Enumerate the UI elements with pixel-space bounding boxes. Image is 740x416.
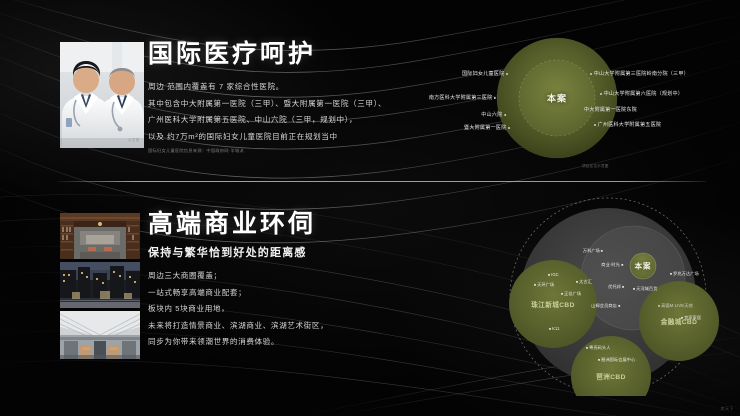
- commercial-cbd-diagram: 本案 珠江新城CBD 金融城CBD 琶洲CBD 万科广场 商业·时光 优托邦 天…: [428, 196, 738, 396]
- marker-dot: [508, 127, 510, 129]
- commercial-line-5: 同步为你带来领潮世界的消费体验。: [148, 338, 328, 346]
- commercial-line-3: 板块内 5块商业用地，: [148, 305, 328, 313]
- poi-utopia: 优托邦: [608, 285, 624, 289]
- commercial-line-2: 一站式畅享高端商业配套；: [148, 289, 328, 297]
- poi-taikoo-hui: 太古汇: [576, 280, 592, 284]
- medical-left-item-0: 国际妇女儿童医院: [462, 72, 508, 77]
- commercial-center-label: 本案: [635, 261, 652, 272]
- commercial-line-1: 周边三大商圈覆盖；: [148, 272, 328, 280]
- commercial-subtitle: 保持与繁华恰到好处的距离感: [148, 244, 328, 260]
- presentation-slide: 示意图 国际医疗呵护 周边 范围内覆盖有 7 家综合性医院。 其中包含中大附属第…: [0, 0, 740, 416]
- marker-dot: [681, 317, 683, 319]
- medical-left-item-2: 中山六院: [481, 113, 506, 118]
- modern-shopping-mall-photo: [60, 311, 140, 359]
- poi-k11: K11: [549, 327, 560, 331]
- marker-dot: [594, 124, 596, 126]
- marker-dot: [586, 347, 588, 349]
- section-divider: [58, 181, 706, 182]
- poi-mlive: 高德M·LIVE天地: [658, 304, 693, 308]
- marker-dot: [506, 73, 508, 75]
- marker-dot: [658, 305, 660, 307]
- poi-sams-club: 山姆会员商店: [591, 304, 620, 308]
- medical-right-item-1: 中山大学附属第六医院（规划中）: [600, 92, 683, 97]
- marker-dot: [576, 281, 578, 283]
- medical-left-item-3: 暨大附属第一医院: [464, 126, 510, 131]
- poi-tianhe-department-store: 天河城百货: [633, 287, 658, 291]
- poi-ikea: 宜家家居: [681, 316, 701, 320]
- watermark: 房天下: [721, 406, 735, 412]
- marker-dot: [598, 359, 600, 361]
- medical-line-1: 周边 范围内覆盖有 7 家综合性医院。: [148, 83, 386, 91]
- two-doctors-photo: [60, 42, 144, 148]
- marker-dot: [618, 305, 620, 307]
- medical-title: 国际医疗呵护: [148, 42, 386, 67]
- marker-dot: [548, 274, 550, 276]
- luxury-retail-interior-photo: [60, 213, 140, 259]
- marker-dot: [633, 288, 635, 290]
- medical-source-note: 国际妇女儿童医院信息来源：中国政府网·羊城派: [148, 148, 386, 154]
- medical-radius-diagram: 本案 国际妇女儿童医院 南方医科大学附属第三医院 中山六院 暨大附属第一医院 中…: [460, 28, 660, 178]
- commercial-title: 高端商业环伺: [148, 212, 328, 237]
- poi-igc: IGC: [548, 273, 559, 277]
- marker-dot: [561, 293, 563, 295]
- marker-dot: [549, 328, 551, 330]
- marker-dot: [504, 114, 506, 116]
- medical-diagram-caption: 项目区位示意图: [582, 164, 609, 169]
- marker-dot: [670, 273, 672, 275]
- marker-dot: [621, 264, 623, 266]
- night-street-commercial-photo: [60, 262, 140, 308]
- cbd-label-zhujiang: 珠江新城CBD: [531, 299, 574, 309]
- marker-dot: [590, 73, 592, 75]
- commercial-text-block: 高端商业环伺 保持与繁华恰到好处的距离感 周边三大商圈覆盖； 一站式畅享高端商业…: [148, 212, 328, 346]
- marker-dot: [601, 250, 603, 252]
- poi-wanda-plaza: 罗兆万达广场: [670, 272, 699, 276]
- photo-caption-medical: 示意图: [128, 138, 140, 143]
- medical-center-label: 本案: [547, 92, 567, 105]
- poi-grandview-plaza: 正佳广场: [561, 292, 581, 296]
- medical-text-block: 国际医疗呵护 周边 范围内覆盖有 7 家综合性医院。 其中包含中大附属第一医院（…: [148, 42, 386, 154]
- medical-line-3: 广州医科大学附属第五医院、中山六院（三甲，规划中），: [148, 116, 386, 124]
- medical-right-item-0: 中山大学附属第三医院岭南分院（三甲）: [590, 72, 689, 77]
- cbd-label-pazhou: 琶洲CBD: [596, 371, 625, 381]
- medical-right-item-2: 中大附属第一医院东院: [584, 108, 637, 113]
- medical-left-item-1: 南方医科大学附属第三医院: [429, 96, 496, 101]
- poi-wharf: 粤亮码头人: [586, 346, 611, 350]
- commercial-line-4: 未来将打造情景商业、滨湖商业、滨湖艺术街区，: [148, 322, 328, 330]
- marker-dot: [600, 93, 602, 95]
- marker-dot: [622, 286, 624, 288]
- poi-pazhou-expo-center: 琶洲国际会展中心: [598, 358, 635, 362]
- marker-dot: [494, 97, 496, 99]
- poi-tianhuan-plaza: 天环广场: [534, 283, 554, 287]
- medical-line-2: 其中包含中大附属第一医院（三甲）、暨大附属第一医院（三甲）、: [148, 100, 386, 108]
- marker-dot: [534, 284, 536, 286]
- medical-right-item-3: 广州医科大学附属第五医院: [594, 123, 661, 128]
- poi-wanke-plaza: 万科广场: [583, 249, 603, 253]
- poi-shangye-shiguang: 商业·时光: [601, 263, 623, 267]
- medical-line-4: 以及 约7万m²的国际妇女儿童医院目前正在规划当中: [148, 133, 386, 141]
